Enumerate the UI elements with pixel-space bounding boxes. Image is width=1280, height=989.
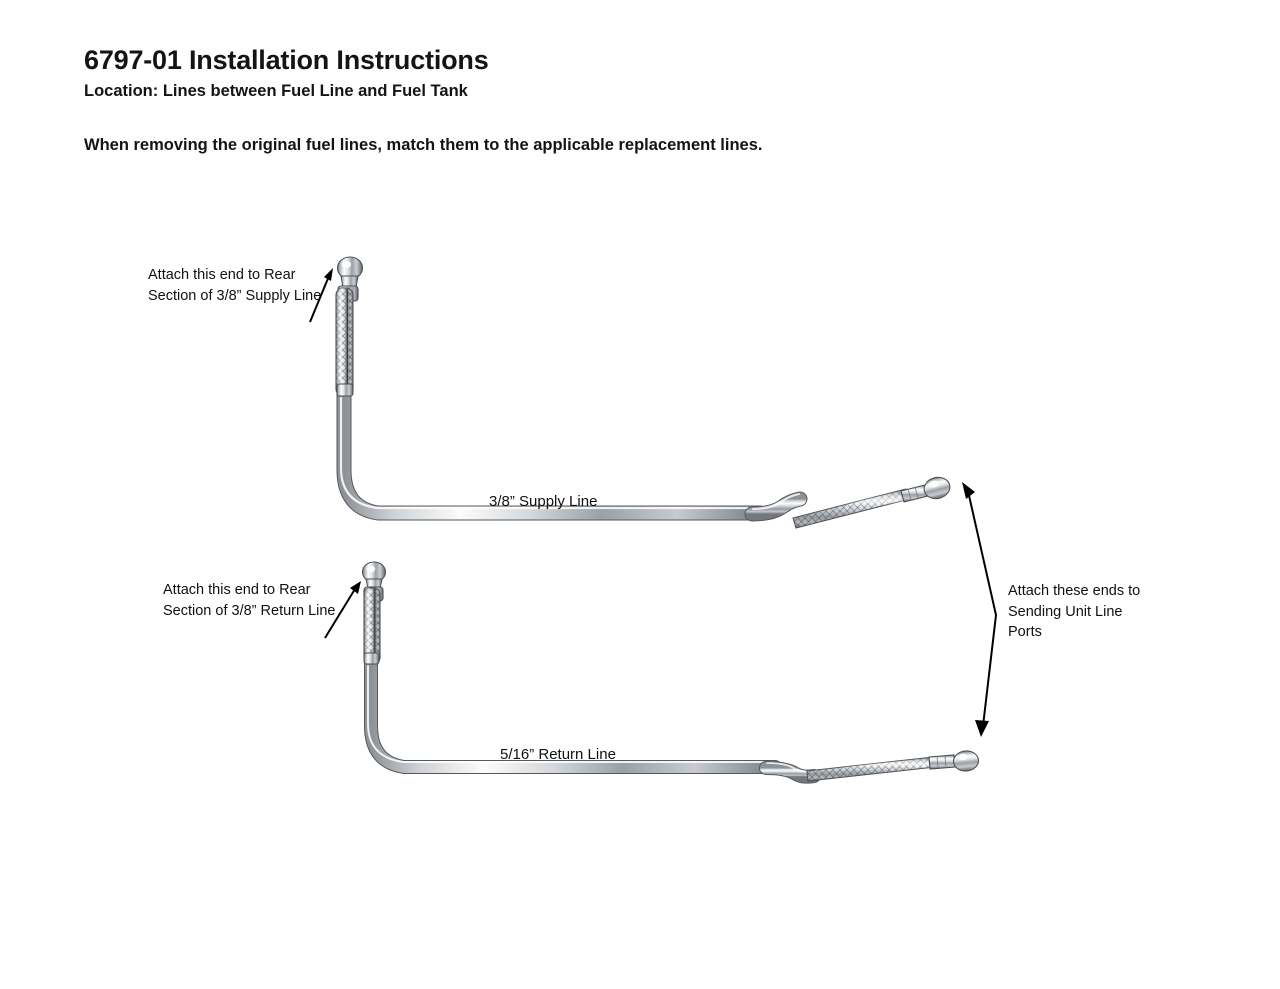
callout-return-line-end: Attach this end to Rear Section of 3/8” …: [163, 580, 343, 621]
return-line-jog: [766, 763, 814, 777]
fuel-line-diagram: Attach this end to Rear Section of 3/8” …: [0, 0, 1280, 989]
return-right-fitting: [929, 750, 979, 772]
supply-right-braided-hose: [780, 480, 925, 540]
return-line-assembly: [363, 562, 980, 795]
supply-upper-braided-hose: [336, 288, 353, 396]
label-supply-line: 3/8” Supply Line: [489, 493, 597, 510]
supply-line-jog: [752, 494, 800, 514]
supply-right-fitting: [901, 475, 952, 502]
fuel-line-illustration: [0, 0, 1280, 989]
return-upper-braided-hose: [364, 588, 380, 664]
supply-line-assembly: [336, 257, 952, 540]
callout-supply-line-end: Attach this end to Rear Section of 3/8” …: [148, 265, 324, 306]
label-return-line: 5/16” Return Line: [500, 746, 616, 763]
callout-sending-unit-ports: Attach these ends to Sending Unit Line P…: [1008, 581, 1148, 643]
arrow-sending-unit-ends: [962, 482, 996, 737]
return-right-braided-hose: [795, 750, 945, 795]
